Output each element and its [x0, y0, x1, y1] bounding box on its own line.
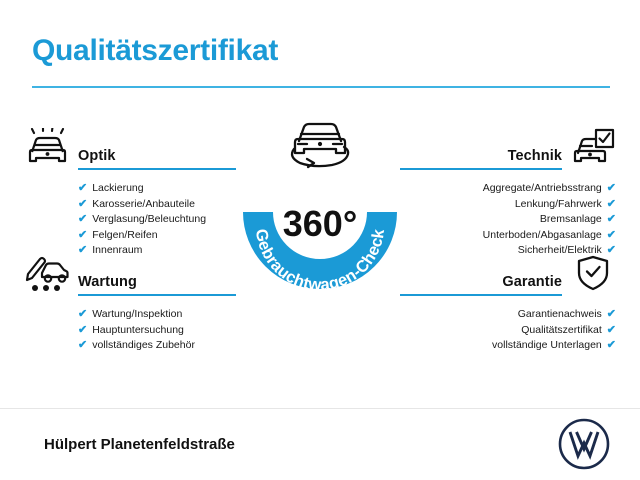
list-item-label: Qualitätszertifikat: [521, 323, 602, 339]
section-header-wartung: Wartung: [24, 254, 236, 300]
section-divider: [400, 294, 562, 296]
check-icon: ✔: [607, 183, 616, 194]
list-item: Unterboden/Abgasanlage✔: [400, 228, 616, 244]
list-item: ✔Lackierung: [78, 181, 236, 197]
footer-divider: [0, 408, 640, 409]
section-divider: [78, 294, 236, 296]
page-title: Qualitätszertifikat: [32, 34, 278, 68]
list-item-label: Lackierung: [92, 181, 143, 197]
section-divider: [400, 168, 562, 170]
section-items-wartung: ✔Wartung/Inspektion ✔Hauptuntersuchung ✔…: [24, 307, 236, 354]
check-icon: ✔: [607, 325, 616, 336]
list-item: vollständige Unterlagen✔: [400, 338, 616, 354]
list-item-label: Karosserie/Anbauteile: [92, 197, 195, 213]
list-item-label: Verglasung/Beleuchtung: [92, 212, 206, 228]
list-item-label: Bremsanlage: [540, 212, 602, 228]
check-icon: ✔: [607, 199, 616, 210]
list-item-label: vollständiges Zubehör: [92, 338, 195, 354]
check-icon: ✔: [78, 214, 87, 225]
check-icon: ✔: [607, 309, 616, 320]
section-wartung: Wartung ✔Wartung/Inspektion ✔Hauptunters…: [24, 254, 236, 354]
dealer-name: Hülpert Planetenfeldstraße: [44, 436, 235, 453]
section-items-garantie: Garantienachweis✔ Qualitätszertifikat✔ v…: [400, 307, 616, 354]
title-divider: [32, 86, 610, 88]
section-technik: Technik Aggregate/Antriebsstrang✔ Lenkun…: [400, 128, 616, 259]
section-title: Optik: [78, 148, 116, 164]
check-icon: ✔: [607, 214, 616, 225]
list-item: Bremsanlage✔: [400, 212, 616, 228]
check-icon: ✔: [78, 183, 87, 194]
list-item: Aggregate/Antriebsstrang✔: [400, 181, 616, 197]
list-item-label: Unterboden/Abgasanlage: [483, 228, 602, 244]
section-header-garantie: Garantie: [400, 254, 616, 300]
check-icon: ✔: [78, 199, 87, 210]
check-icon: ✔: [607, 340, 616, 351]
list-item-label: Felgen/Reifen: [92, 228, 157, 244]
check-icon: ✔: [78, 340, 87, 351]
list-item: ✔Felgen/Reifen: [78, 228, 236, 244]
list-item: ✔Verglasung/Beleuchtung: [78, 212, 236, 228]
list-item: ✔Hauptuntersuchung: [78, 323, 236, 339]
list-item: ✔Wartung/Inspektion: [78, 307, 236, 323]
check-icon: ✔: [78, 230, 87, 241]
section-items-technik: Aggregate/Antriebsstrang✔ Lenkung/Fahrwe…: [400, 181, 616, 259]
section-header-technik: Technik: [400, 128, 616, 174]
list-item-label: Lenkung/Fahrwerk: [515, 197, 602, 213]
list-item: Garantienachweis✔: [400, 307, 616, 323]
list-item: Lenkung/Fahrwerk✔: [400, 197, 616, 213]
check-icon: ✔: [607, 230, 616, 241]
vw-logo: [558, 418, 610, 470]
car-rotate-icon: [274, 115, 366, 173]
section-title: Wartung: [78, 274, 137, 290]
section-items-optik: ✔Lackierung ✔Karosserie/Anbauteile ✔Verg…: [24, 181, 236, 259]
certificate-page: Qualitätszertifikat: [0, 0, 640, 480]
list-item-label: Aggregate/Antriebsstrang: [483, 181, 602, 197]
list-item-label: Garantienachweis: [518, 307, 602, 323]
badge-degrees: 360°: [283, 203, 357, 244]
section-garantie: Garantie Garantienachweis✔ Qualitätszert…: [400, 254, 616, 354]
section-optik: Optik ✔Lackierung ✔Karosserie/Anbauteile…: [24, 128, 236, 259]
list-item: ✔Karosserie/Anbauteile: [78, 197, 236, 213]
section-title: Technik: [508, 148, 562, 164]
list-item: Qualitätszertifikat✔: [400, 323, 616, 339]
section-divider: [78, 168, 236, 170]
check-icon: ✔: [78, 309, 87, 320]
list-item-label: vollständige Unterlagen: [492, 338, 602, 354]
list-item-label: Wartung/Inspektion: [92, 307, 182, 323]
list-item: ✔vollständiges Zubehör: [78, 338, 236, 354]
list-item-label: Hauptuntersuchung: [92, 323, 184, 339]
section-header-optik: Optik: [24, 128, 236, 174]
check-icon: ✔: [78, 325, 87, 336]
section-title: Garantie: [502, 274, 562, 290]
